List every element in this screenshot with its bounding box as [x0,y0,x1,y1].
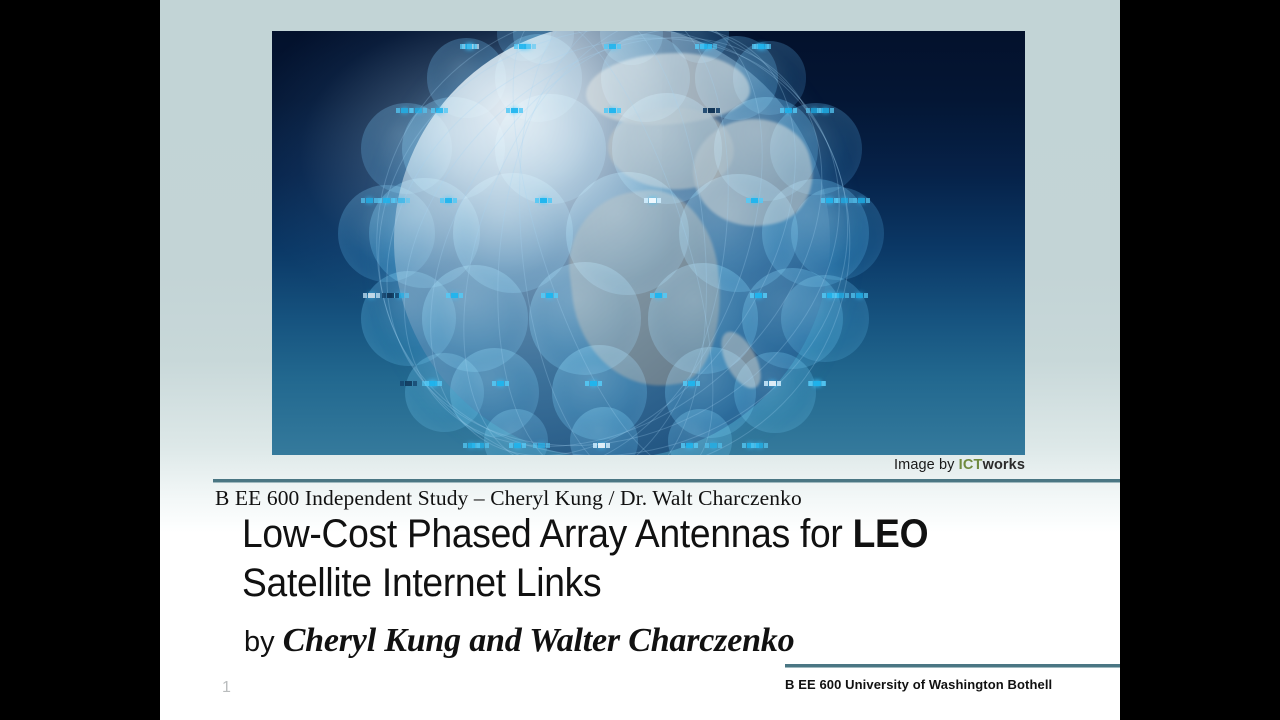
header-divider-rule [213,479,1120,483]
satellite-icon [755,293,762,298]
satellite-icon [759,44,766,49]
satellite-icon [858,198,865,203]
satellite-icon [519,44,526,49]
satellite-icon [430,381,437,386]
byline-prefix: by [244,626,283,658]
satellite-icon [688,381,695,386]
satellite-icon [856,293,863,298]
page-title: Low-Cost Phased Array Antennas for LEOSa… [242,510,1023,608]
satellite-icon [538,443,545,448]
satellite-icon [609,44,616,49]
image-credit: Image by ICTworks [894,457,1025,473]
satellite-icon [436,108,443,113]
satellite-icon [609,108,616,113]
satellite-icon [445,198,452,203]
satellite-icon [756,443,763,448]
satellite-icon [401,108,408,113]
satellite-constellation-image [272,31,1025,455]
satellite-icon [405,381,412,386]
satellite-icon [826,198,833,203]
satellite-icon [708,108,715,113]
satellite-icon [398,198,405,203]
ictworks-brand-second: works [983,457,1025,473]
satellite-icon [540,198,547,203]
satellite-icon [511,108,518,113]
satellite-icon [649,198,656,203]
satellite-icon [655,293,662,298]
byline-authors: Cheryl Kung and Walter Charczenko [283,622,795,659]
satellite-icon [451,293,458,298]
satellite-icon [822,108,829,113]
slide-footer: B EE 600 University of Washington Bothel… [785,677,1052,692]
satellite-icon [383,198,390,203]
page-title-line2: Satellite Internet Links [242,561,601,605]
satellite-icon [415,108,422,113]
satellite-icon [590,381,597,386]
screenshot-viewport: Image by ICTworks B EE 600 Independent S… [0,0,1280,720]
slide-number: 1 [222,679,231,697]
satellite-icon [546,293,553,298]
page-title-leo-emphasis: LEO [853,512,929,556]
footer-divider-rule [785,664,1120,668]
satellite-icon [497,381,504,386]
satellite-icon [366,198,373,203]
satellite-icon [705,44,712,49]
satellite-icon [841,198,848,203]
satellite-icon [368,293,375,298]
satellite-icon [686,443,693,448]
satellite-icon [751,198,758,203]
presentation-slide: Image by ICTworks B EE 600 Independent S… [160,0,1120,720]
satellite-icon [710,443,717,448]
satellite-icon [514,443,521,448]
satellite-icon [598,443,605,448]
satellite-icon [387,293,394,298]
satellite-icon [785,108,792,113]
byline: by Cheryl Kung and Walter Charczenko [244,620,794,663]
page-title-line1-plain: Low-Cost Phased Array Antennas for [242,512,853,556]
course-subheading: B EE 600 Independent Study – Cheryl Kung… [215,486,802,511]
satellite-icon [813,381,820,386]
satellite-icon [837,293,844,298]
satellite-icon [468,443,475,448]
globe-group [344,31,944,455]
ictworks-brand-first: ICT [959,457,983,473]
satellite-icon [769,381,776,386]
image-credit-prefix: Image by [894,457,959,473]
orbital-arc [360,31,865,455]
satellite-icon [465,44,472,49]
